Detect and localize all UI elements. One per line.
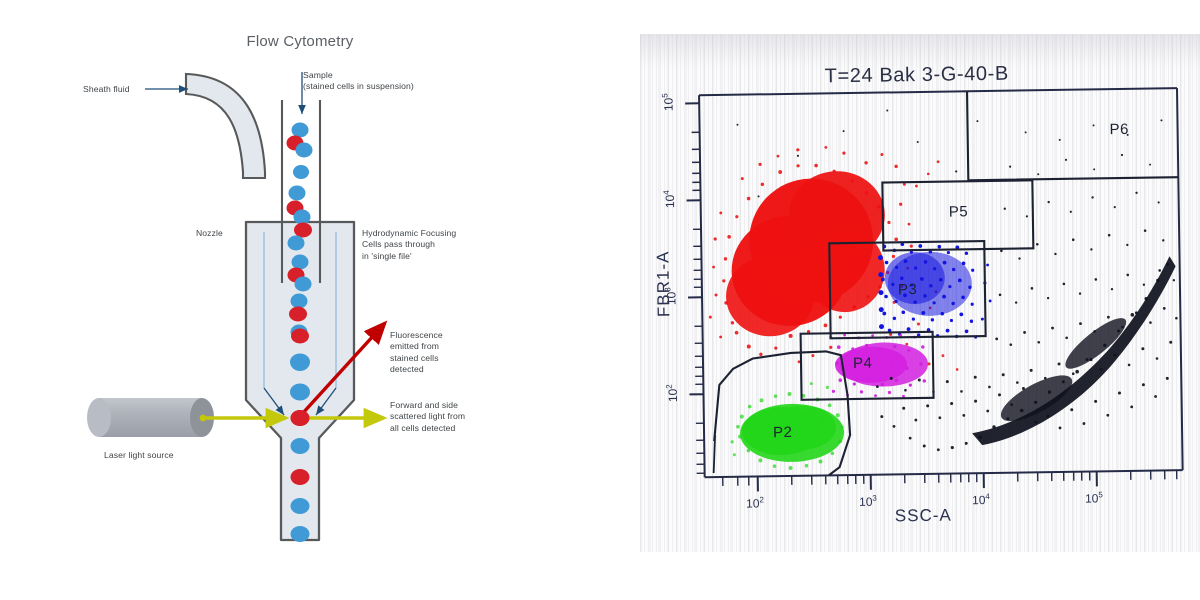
screenshot-root: Flow Cytometry bbox=[0, 0, 1200, 600]
y-tick-1e4: 104 bbox=[662, 190, 677, 208]
cell-unstained bbox=[289, 186, 306, 201]
cell-unstained bbox=[292, 255, 309, 270]
cell-unstained bbox=[291, 355, 310, 371]
label-sample: Sample (stained cells in suspension) bbox=[303, 70, 414, 93]
y-tick-1e5: 105 bbox=[660, 93, 675, 111]
cell-unstained bbox=[291, 294, 308, 309]
cell-unstained bbox=[288, 236, 305, 251]
cell-unstained bbox=[291, 526, 310, 542]
gate-label-P2: P2 bbox=[773, 424, 793, 441]
cell-unstained bbox=[294, 210, 311, 225]
cell-stained bbox=[291, 469, 310, 485]
y-axis-label: FBR1-A bbox=[653, 224, 675, 344]
laser-light-source bbox=[87, 398, 214, 437]
gate-label-P4: P4 bbox=[853, 355, 873, 372]
label-fluorescence: Fluorescence emitted from stained cells … bbox=[390, 330, 443, 375]
label-laser-light-source: Laser light source bbox=[104, 450, 174, 461]
gate-label-P5: P5 bbox=[949, 203, 969, 220]
cell-unstained bbox=[292, 123, 309, 138]
label-scattered-light: Forward and side scattered light from al… bbox=[390, 400, 465, 434]
cytogram-panel: T=24 Bak 3-G-40-B bbox=[640, 34, 1200, 552]
label-sheath-fluid: Sheath fluid bbox=[83, 84, 130, 95]
flow-cytometry-schematic-panel: Flow Cytometry bbox=[0, 0, 600, 600]
cell-stained bbox=[291, 329, 309, 344]
cell-unstained bbox=[291, 498, 310, 514]
sheath-fluid-pipe bbox=[186, 74, 265, 178]
cell-unstained bbox=[293, 165, 309, 179]
label-nozzle: Nozzle bbox=[196, 228, 223, 239]
gate-label-P6: P6 bbox=[1109, 121, 1129, 138]
cell-stained bbox=[289, 307, 307, 322]
gate-P6 bbox=[967, 88, 1178, 180]
y-tick-1e2: 102 bbox=[665, 384, 680, 402]
cytogram-rotated-group: T=24 Bak 3-G-40-B bbox=[640, 34, 1200, 552]
cell-unstained bbox=[291, 438, 310, 454]
cell-at-interrogation-point bbox=[291, 410, 310, 426]
gate-label-P3: P3 bbox=[898, 281, 918, 298]
cell-stained bbox=[294, 223, 312, 238]
cell-unstained bbox=[295, 277, 312, 292]
cell-unstained bbox=[296, 143, 313, 158]
label-hydrodynamic-focusing: Hydrodynamic Focusing Cells pass through… bbox=[362, 228, 456, 262]
population-magenta bbox=[829, 332, 928, 398]
cytogram-scatter-plot bbox=[640, 34, 1200, 552]
